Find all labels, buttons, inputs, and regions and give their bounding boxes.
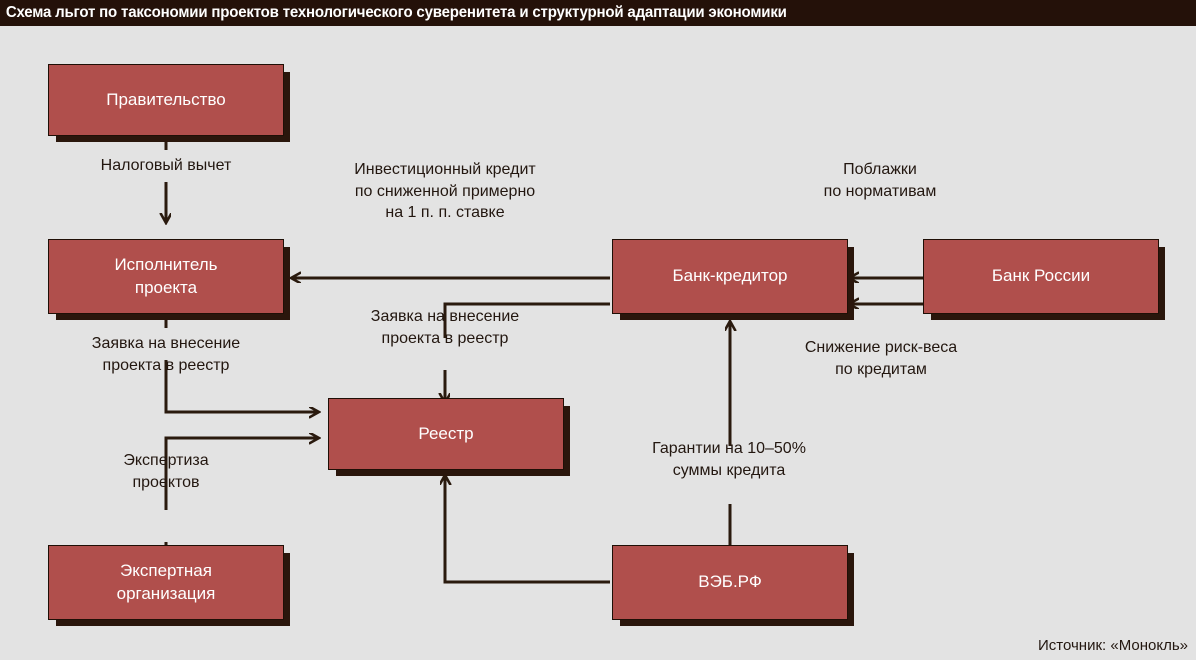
- edge-label-registry-request-left: Заявка на внесение проекта в реестр: [46, 333, 286, 376]
- infographic-page: Схема льгот по таксономии проектов техно…: [0, 0, 1196, 660]
- node-government-label: Правительство: [106, 89, 226, 112]
- node-veb-rf-label: ВЭБ.РФ: [698, 571, 762, 594]
- edge-label-guarantees: Гарантии на 10–50% суммы кредита: [616, 438, 842, 481]
- edge-label-project-expertise: Экспертиза проектов: [46, 450, 286, 493]
- source-note: Источник: «Монокль»: [1038, 637, 1188, 654]
- edge-label-norm-relief: Поблажки по нормативам: [770, 159, 990, 202]
- node-executor[interactable]: Исполнитель проекта: [48, 239, 284, 314]
- node-expert-org[interactable]: Экспертная организация: [48, 545, 284, 620]
- edge-label-risk-weight: Снижение риск-веса по кредитам: [768, 337, 994, 380]
- node-registry-label: Реестр: [418, 423, 473, 446]
- node-bank-russia-label: Банк России: [992, 265, 1090, 288]
- edge-label-registry-request-mid: Заявка на внесение проекта в реестр: [322, 306, 568, 349]
- node-expert-org-label: Экспертная организация: [117, 560, 216, 606]
- title-bar: Схема льгот по таксономии проектов техно…: [0, 0, 1196, 26]
- node-executor-label: Исполнитель проекта: [114, 254, 217, 300]
- node-veb-rf[interactable]: ВЭБ.РФ: [612, 545, 848, 620]
- node-bank-russia[interactable]: Банк России: [923, 239, 1159, 314]
- edge-label-tax-deduction: Налоговый вычет: [46, 155, 286, 177]
- diagram-canvas: Правительство Исполнитель проекта Экспер…: [0, 26, 1196, 660]
- node-creditor-bank-label: Банк-кредитор: [673, 265, 788, 288]
- edge-label-investment-credit: Инвестиционный кредит по сниженной приме…: [322, 159, 568, 224]
- node-government[interactable]: Правительство: [48, 64, 284, 136]
- page-title: Схема льгот по таксономии проектов техно…: [0, 4, 787, 22]
- node-creditor-bank[interactable]: Банк-кредитор: [612, 239, 848, 314]
- node-registry[interactable]: Реестр: [328, 398, 564, 470]
- edge-veb-registry: [445, 476, 610, 582]
